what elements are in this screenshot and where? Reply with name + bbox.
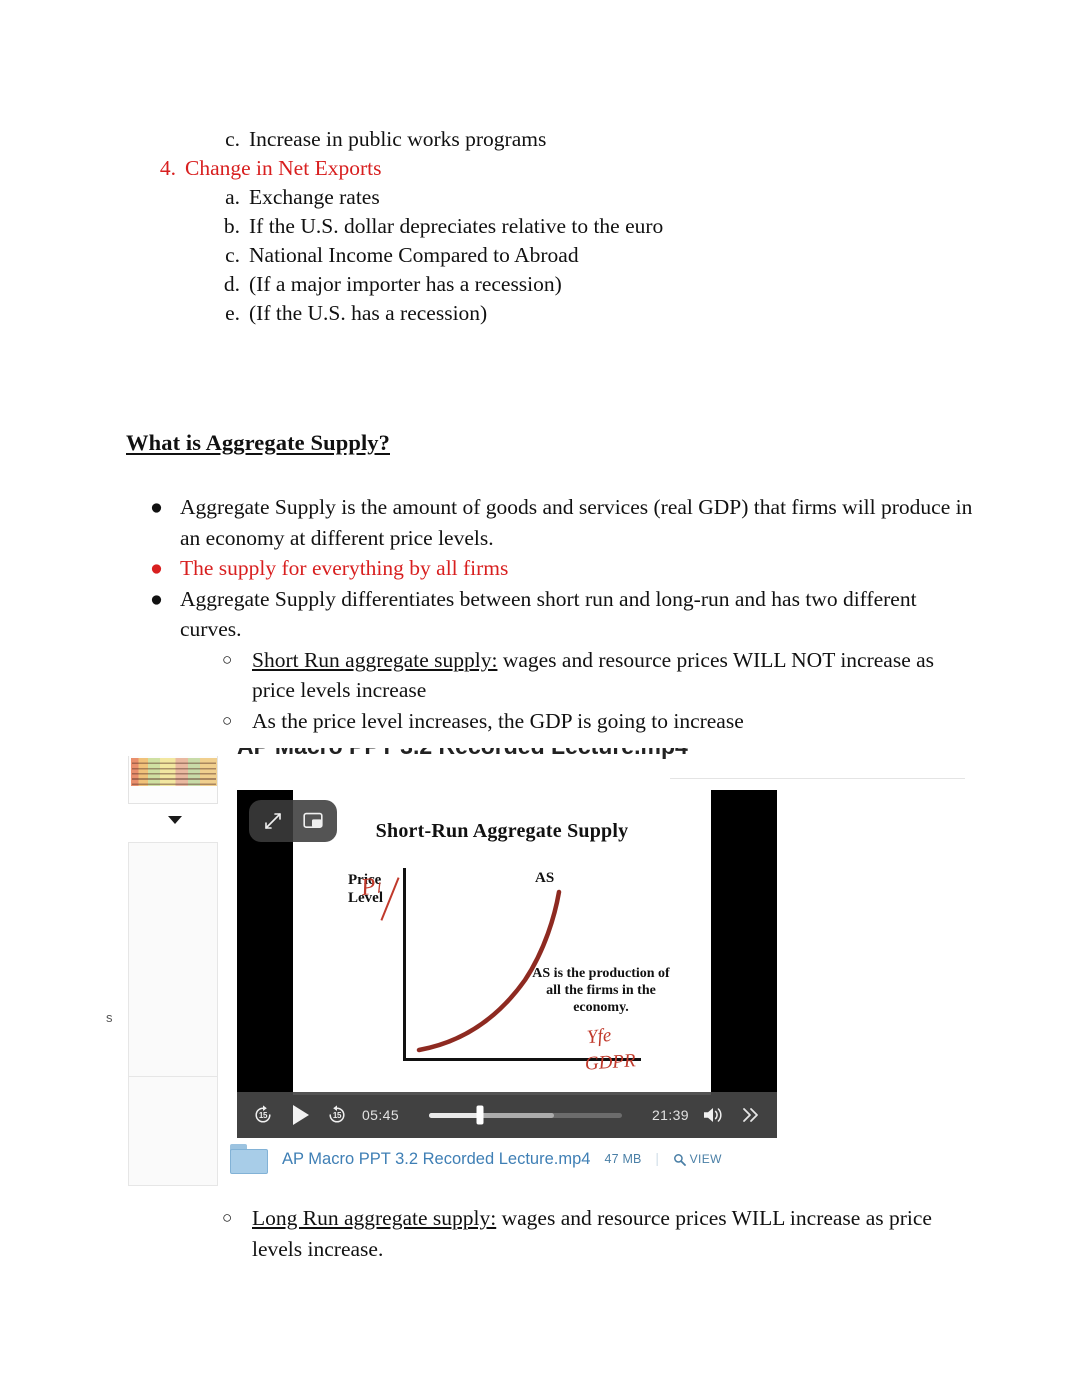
list-item-text: Increase in public works programs <box>249 126 980 154</box>
attachment-size: 47 MB <box>604 1152 641 1166</box>
section-heading: What is Aggregate Supply? <box>126 430 390 456</box>
video-player[interactable]: Short-Run Aggregate Supply PriceLevel AS… <box>237 790 777 1138</box>
list-item: ● Aggregate Supply is the amount of good… <box>150 492 980 553</box>
divider <box>670 778 965 779</box>
list-item: ○ Short Run aggregate supply: wages and … <box>150 645 980 706</box>
play-button[interactable] <box>288 1103 312 1127</box>
rewind-15-button[interactable]: 15 <box>251 1103 275 1127</box>
volume-button[interactable] <box>702 1103 726 1127</box>
progress-knob[interactable] <box>477 1106 484 1125</box>
list-item-text: Change in Net Exports <box>185 155 980 183</box>
list-marker: c. <box>214 242 240 270</box>
divider <box>129 1076 217 1077</box>
attachment-view-button[interactable]: VIEW <box>673 1152 722 1166</box>
list-item-text: The supply for everything by all firms <box>180 553 980 584</box>
folder-icon <box>230 1144 268 1174</box>
list-item: b. If the U.S. dollar depreciates relati… <box>150 213 980 241</box>
sidebar-thumbnail-card[interactable] <box>128 756 218 804</box>
list-item-text: Exchange rates <box>249 184 980 212</box>
document-thumbnail-icon <box>131 758 217 786</box>
slide-note-text: AS is the production of all the firms in… <box>531 965 671 1016</box>
list-item-emphasis: Long Run aggregate supply: <box>252 1206 496 1230</box>
magnifier-icon <box>673 1153 686 1166</box>
volume-icon <box>702 1105 726 1125</box>
separator: | <box>656 1151 659 1168</box>
chart-curve-label: AS <box>535 870 554 887</box>
chevron-double-right-icon[interactable] <box>739 1103 763 1127</box>
list-item-text: Short Run aggregate supply: wages and re… <box>252 645 980 706</box>
sidebar-text-fragment: s <box>106 1010 118 1026</box>
embedded-attachment-region: AP Macro PPT 3.2 Recorded Lecture.mp4 s … <box>108 748 988 1198</box>
list-item: c. National Income Compared to Abroad <box>150 242 980 270</box>
progress-scrubber[interactable] <box>429 1113 622 1118</box>
forward-15-button[interactable]: 15 <box>325 1103 349 1127</box>
bullet-marker: ○ <box>222 1203 252 1234</box>
list-item-text: If the U.S. dollar depreciates relative … <box>249 213 980 241</box>
list-item: e. (If the U.S. has a recession) <box>150 300 980 328</box>
handwriting-slash-mark <box>380 877 399 920</box>
chevron-down-icon[interactable] <box>168 816 182 824</box>
list-item-text: As the price level increases, the GDP is… <box>252 706 980 737</box>
picture-in-picture-icon[interactable] <box>303 812 323 830</box>
list-item: ○ Long Run aggregate supply: wages and r… <box>222 1203 982 1264</box>
clipped-message-subject: AP Macro PPT 3.2 Recorded Lecture.mp4 <box>237 748 737 768</box>
player-control-bar[interactable]: 15 15 05:45 <box>237 1092 777 1138</box>
list-item-text: Aggregate Supply is the amount of goods … <box>180 492 980 553</box>
play-icon <box>293 1105 309 1125</box>
list-item: a. Exchange rates <box>150 184 980 212</box>
list-marker: b. <box>214 213 240 241</box>
tail-bullet-list: ○ Long Run aggregate supply: wages and r… <box>222 1203 982 1264</box>
bullet-marker: ○ <box>222 645 252 676</box>
handwriting-gdpr: GDPR <box>584 1050 636 1075</box>
handwriting-yfe: Yfe <box>586 1025 612 1049</box>
sidebar-panel <box>128 842 218 1186</box>
list-item: d. (If a major importer has a recession) <box>150 271 980 299</box>
list-item: ● Aggregate Supply differentiates betwee… <box>150 584 980 645</box>
list-item-emphasis: Short Run aggregate supply: <box>252 648 497 672</box>
attachment-view-label: VIEW <box>690 1152 722 1166</box>
list-item: ○ As the price level increases, the GDP … <box>150 706 980 737</box>
attachment-filename[interactable]: AP Macro PPT 3.2 Recorded Lecture.mp4 <box>282 1150 590 1169</box>
list-item: c. Increase in public works programs <box>150 126 980 154</box>
expand-arrows-icon[interactable] <box>263 811 283 831</box>
list-item: 4. Change in Net Exports <box>150 155 980 183</box>
rewind-15-label: 15 <box>252 1104 274 1126</box>
attachment-row[interactable]: AP Macro PPT 3.2 Recorded Lecture.mp4 47… <box>230 1144 722 1174</box>
bullet-marker: ○ <box>222 706 252 737</box>
bullet-marker: ● <box>150 553 180 584</box>
current-time: 05:45 <box>362 1107 410 1123</box>
outline-list: c. Increase in public works programs 4. … <box>150 126 980 329</box>
chart-y-axis <box>403 868 406 1061</box>
handwriting-price-level: Pₗ <box>359 871 382 902</box>
bullet-list: ● Aggregate Supply is the amount of good… <box>150 492 980 737</box>
list-item-text: (If a major importer has a recession) <box>249 271 980 299</box>
video-slide-frame: Short-Run Aggregate Supply PriceLevel AS… <box>293 790 711 1095</box>
progress-played <box>429 1113 480 1118</box>
list-marker: a. <box>214 184 240 212</box>
list-item-text: Aggregate Supply differentiates between … <box>180 584 980 645</box>
list-item: ● The supply for everything by all firms <box>150 553 980 584</box>
list-marker: 4. <box>150 155 176 183</box>
duration: 21:39 <box>641 1107 689 1123</box>
list-item-text: (If the U.S. has a recession) <box>249 300 980 328</box>
slide-title: Short-Run Aggregate Supply <box>293 820 711 843</box>
list-marker: d. <box>214 271 240 299</box>
player-top-controls[interactable] <box>249 800 337 842</box>
bullet-marker: ● <box>150 492 180 523</box>
list-marker: e. <box>214 300 240 328</box>
list-item-text: Long Run aggregate supply: wages and res… <box>252 1203 982 1264</box>
document-page: c. Increase in public works programs 4. … <box>0 0 1080 1397</box>
list-marker: c. <box>214 126 240 154</box>
list-item-text: National Income Compared to Abroad <box>249 242 980 270</box>
forward-15-label: 15 <box>326 1104 348 1126</box>
bullet-marker: ● <box>150 584 180 615</box>
